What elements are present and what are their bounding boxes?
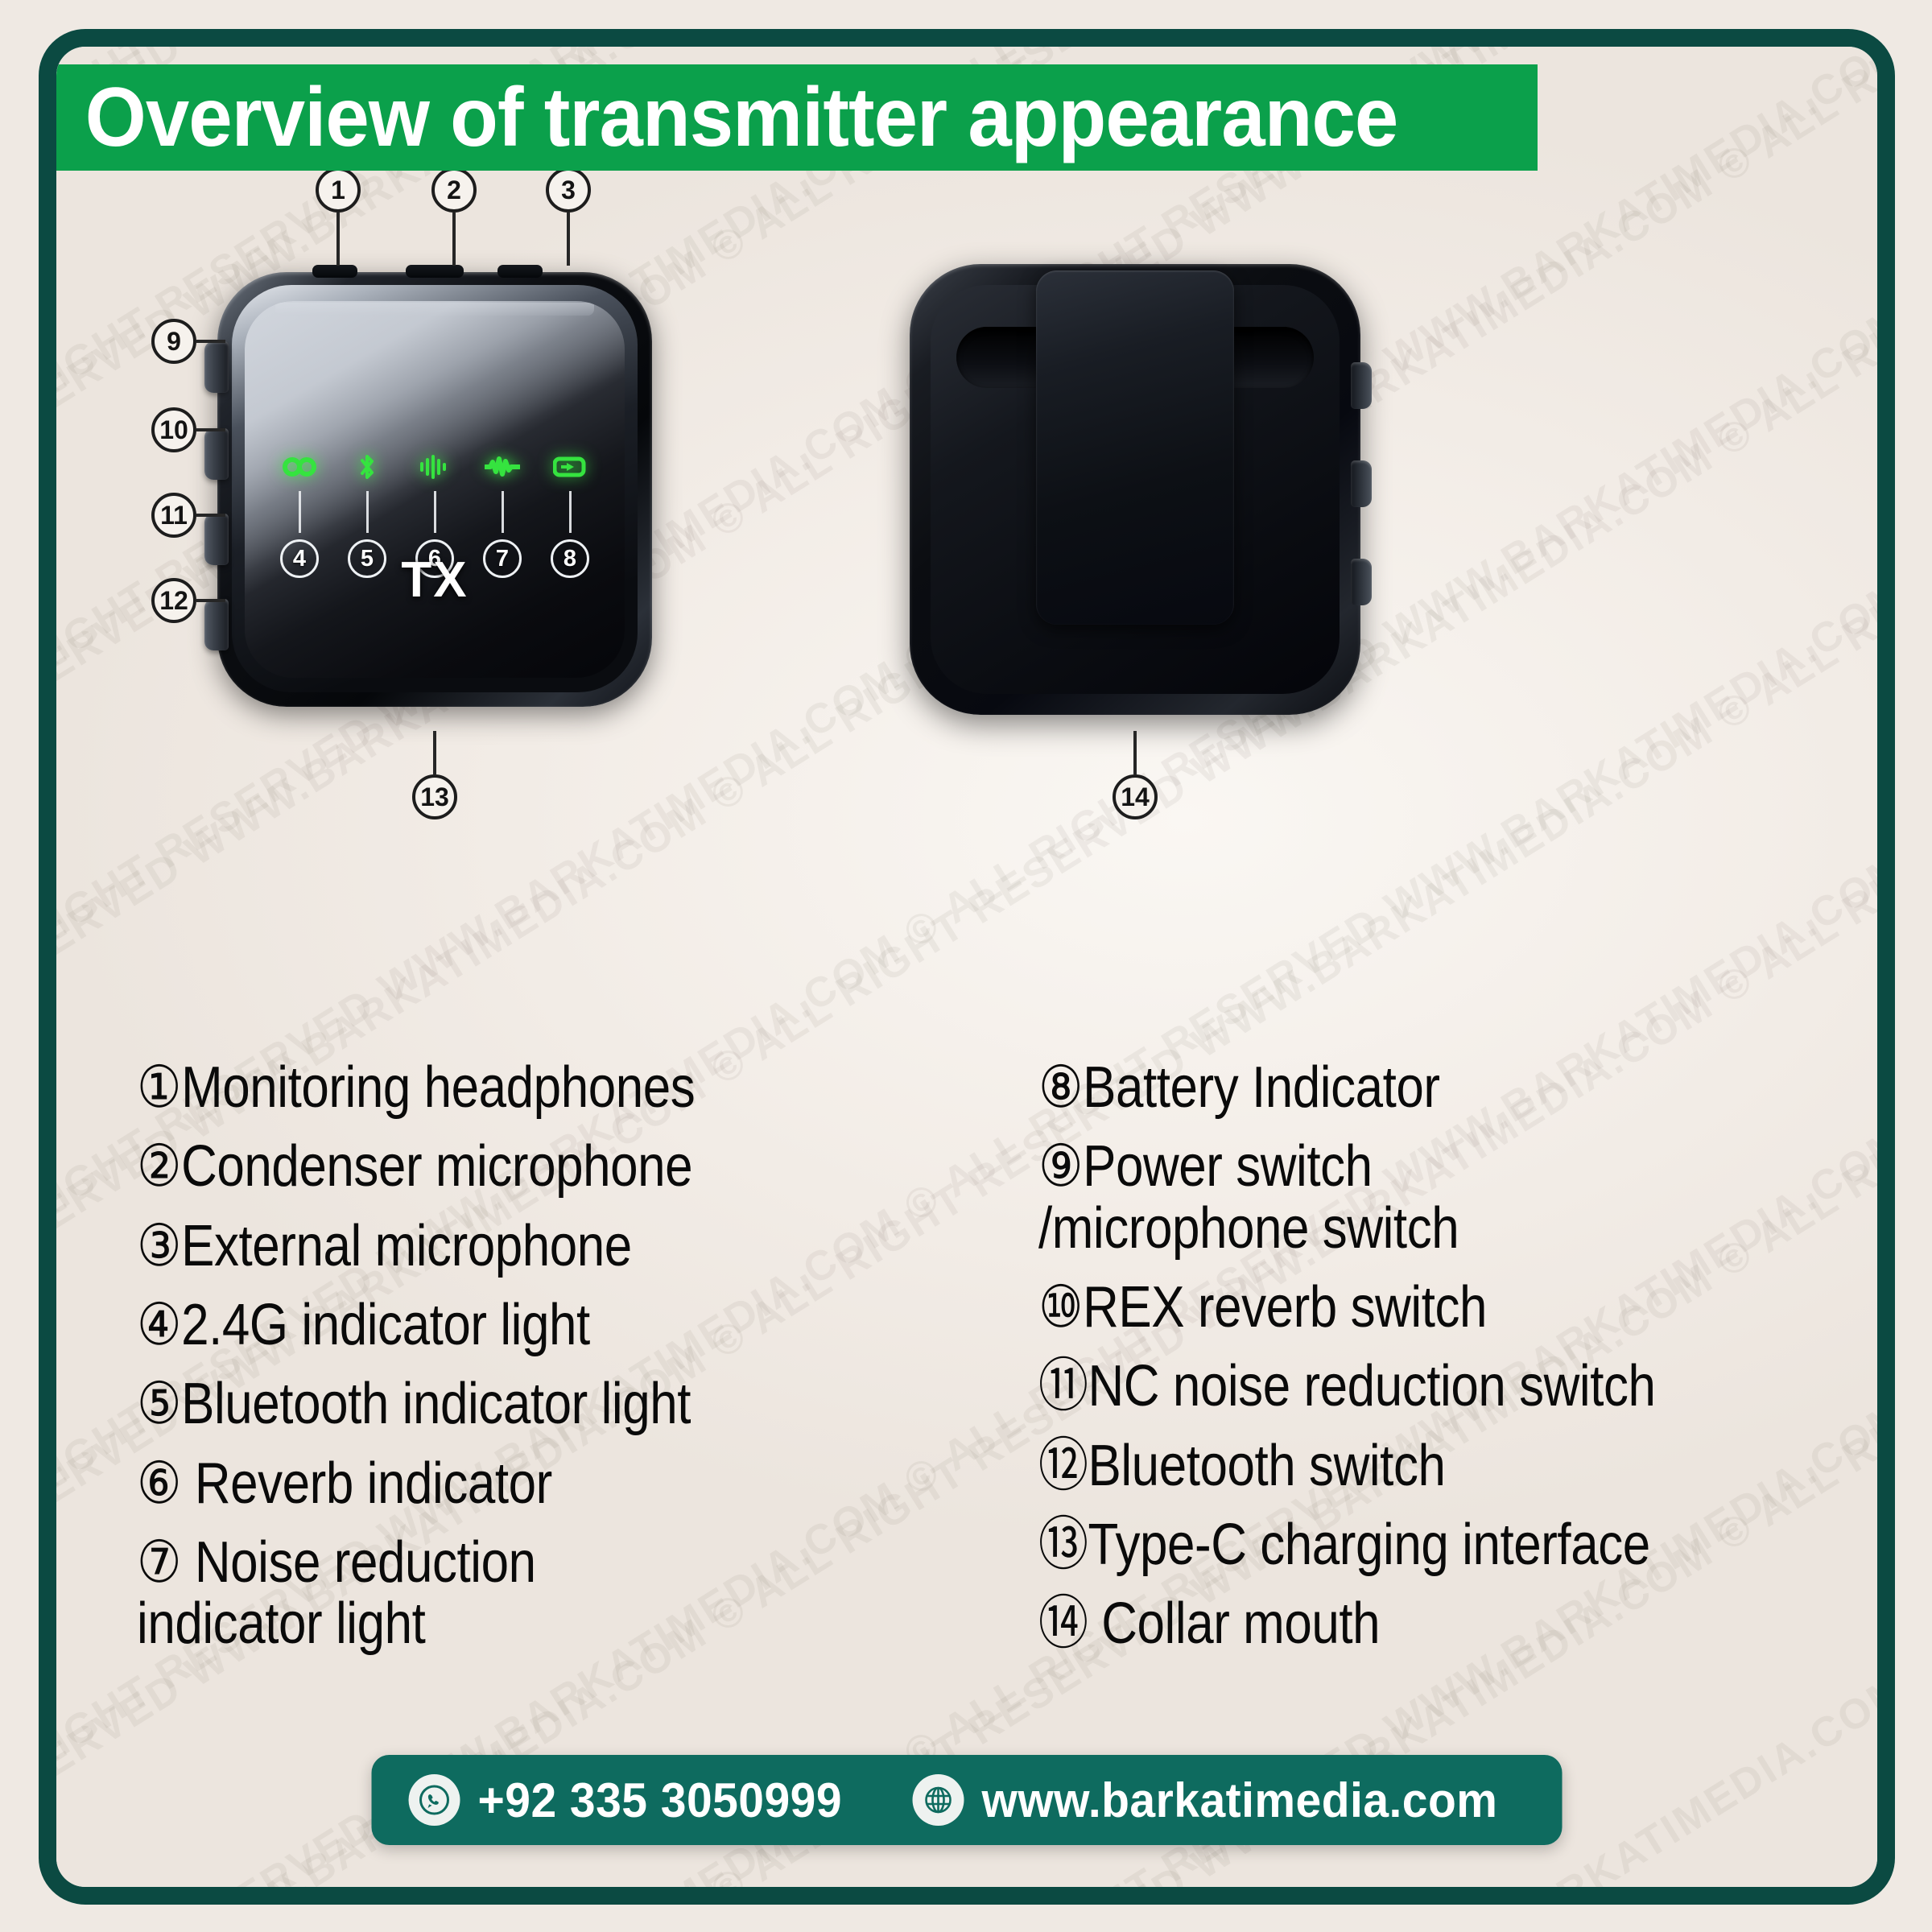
battery-icon: [552, 451, 588, 483]
phone-number: +92 335 3050999: [478, 1773, 842, 1828]
callout-number: 14: [1113, 774, 1158, 819]
leader-line: [502, 491, 504, 533]
legend-item: ②Condenser microphone: [137, 1136, 885, 1197]
external-mic-slot: [497, 265, 543, 278]
bluetooth-icon: [349, 451, 385, 483]
callout-3: 3: [546, 167, 591, 266]
callout-number: 1: [316, 167, 361, 213]
collar-clip-plate: [1036, 270, 1234, 625]
legend-item: ⑦ Noise reduction indicator light: [137, 1532, 885, 1655]
title-banner: Overview of transmitter appearance: [56, 64, 1538, 171]
leader-line: [196, 340, 225, 343]
callout-2: 2: [431, 167, 477, 266]
link-2.4g-icon: [282, 451, 317, 483]
callout-10: 10: [151, 407, 225, 452]
callout-number: 11: [151, 493, 196, 538]
callout-number: 10: [151, 407, 196, 452]
callout-number: 3: [546, 167, 591, 213]
callout-12: 12: [151, 578, 225, 623]
product-stage: 4 5 6 7: [56, 175, 1877, 1029]
phone-contact[interactable]: +92 335 3050999: [409, 1773, 861, 1828]
screen-gloss-reflection: [245, 301, 625, 678]
legend-column-right: ⑧Battery Indicator⑨Power switch /microph…: [1038, 1057, 1895, 1673]
leader-line: [452, 213, 456, 266]
leader-line: [569, 491, 572, 533]
legend-item: ③External microphone: [137, 1216, 885, 1277]
legend-item: ⑥ Reverb indicator: [137, 1453, 885, 1514]
leader-line: [196, 428, 225, 431]
leader-line: [299, 491, 301, 533]
whatsapp-icon: [409, 1774, 460, 1826]
back-side-button-top[interactable]: [1351, 362, 1372, 409]
transmitter-front-view: 4 5 6 7: [217, 272, 652, 707]
infographic-page: WWW.BARKATIMEDIA.COM © ALL RIGHT RESERVE…: [0, 0, 1932, 1932]
legend-item: ⑬Type-C charging interface: [1038, 1514, 1786, 1575]
callout-9: 9: [151, 319, 225, 364]
legend-item: ①Monitoring headphones: [137, 1057, 885, 1118]
callout-13: 13: [412, 731, 457, 819]
back-side-button-bottom[interactable]: [1351, 559, 1372, 605]
legend-item: ⑭ Collar mouth: [1038, 1593, 1786, 1654]
leader-line: [567, 213, 570, 266]
leader-line: [196, 514, 225, 517]
legend-item: ④2.4G indicator light: [137, 1294, 885, 1356]
headphone-jack-slot: [312, 265, 357, 278]
content-frame: WWW.BARKATIMEDIA.COM © ALL RIGHT RESERVE…: [39, 29, 1895, 1905]
leader-line: [434, 491, 436, 533]
leader-line: [1133, 731, 1137, 774]
legend-item: ⑨Power switch /microphone switch: [1038, 1136, 1786, 1259]
transmitter-back-view: [910, 264, 1360, 715]
face-top-strip: [275, 303, 594, 316]
leader-line: [336, 213, 340, 266]
globe-icon: [913, 1774, 964, 1826]
website-contact[interactable]: www.barkatimedia.com: [913, 1773, 1525, 1828]
leader-line: [366, 491, 369, 533]
callout-number: 12: [151, 578, 196, 623]
legend-item: ⑫Bluetooth switch: [1038, 1435, 1786, 1496]
contact-footer-bar: +92 335 3050999 www.barkatimedia.com: [372, 1755, 1563, 1845]
back-side-button-middle[interactable]: [1351, 460, 1372, 507]
led-indicator-row: [245, 451, 625, 483]
legend-item: ⑤Bluetooth indicator light: [137, 1373, 885, 1435]
page-title: Overview of transmitter appearance: [56, 76, 1397, 159]
callout-14: 14: [1113, 731, 1158, 819]
legend-item: ⑩REX reverb switch: [1038, 1277, 1786, 1338]
callout-1: 1: [316, 167, 361, 266]
callout-11: 11: [151, 493, 225, 538]
leader-line: [433, 731, 436, 774]
condenser-mic-slot: [406, 265, 464, 278]
reverb-waveform-icon: [417, 451, 452, 483]
callout-number: 2: [431, 167, 477, 213]
leader-line: [196, 599, 225, 602]
legend-item: ⑧Battery Indicator: [1038, 1057, 1786, 1118]
transmitter-face-panel: 4 5 6 7: [245, 301, 625, 678]
tx-logo: TX: [245, 551, 625, 609]
website-url: www.barkatimedia.com: [982, 1773, 1498, 1828]
noise-reduction-wave-icon: [485, 451, 520, 483]
legend-item: ⑪NC noise reduction switch: [1038, 1356, 1786, 1417]
legend-column-left: ①Monitoring headphones②Condenser microph…: [137, 1057, 1006, 1673]
callout-number: 9: [151, 319, 196, 364]
callout-number: 13: [412, 774, 457, 819]
